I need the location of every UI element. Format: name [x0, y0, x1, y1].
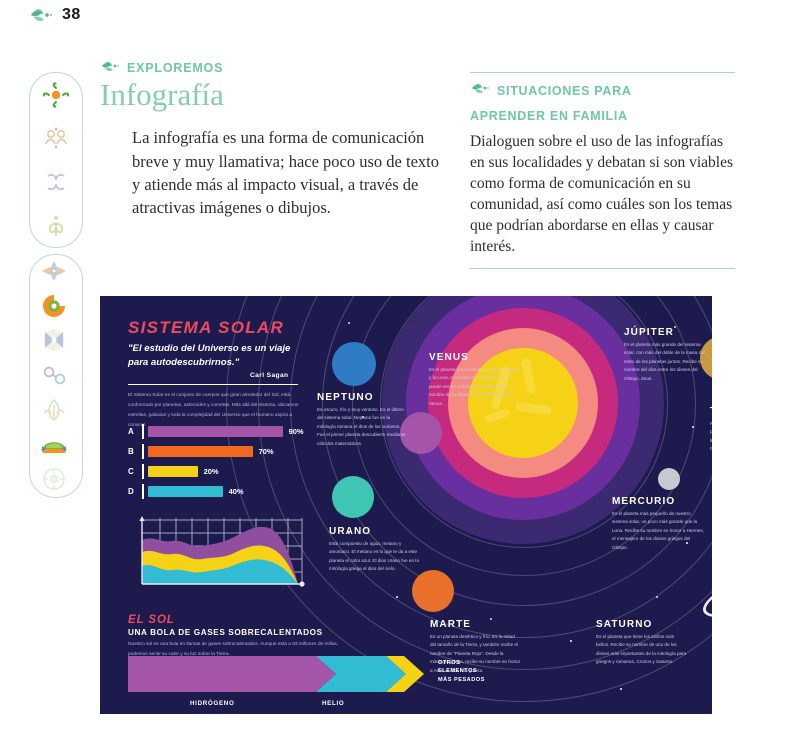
flower-orange-icon[interactable] — [39, 81, 73, 109]
planet-desc: Es el planeta más pequeño de nuestro sis… — [612, 510, 704, 552]
label-otros-elementos: OTROS ELEMENTOS MÁS PESADOS — [438, 659, 485, 684]
planet-name: SATURNO — [596, 619, 688, 630]
bar-axis — [142, 464, 144, 479]
rail-group-bottom[interactable] — [29, 254, 83, 498]
leaf-ornament-icon — [27, 6, 55, 24]
table-row: B 70% — [128, 444, 318, 459]
label-mercurio: MERCURIO Es el planeta más pequeño de nu… — [612, 496, 704, 552]
kicker-line-2-wrap: APRENDER EN FAMILIA — [470, 107, 735, 126]
bar-fill — [148, 426, 283, 437]
label-saturno: SATURNO Es el planeta que tiene los anil… — [596, 619, 688, 667]
label-venus: VENUS Es el planeta más caliente y despu… — [429, 352, 521, 408]
planet-mercurio[interactable] — [658, 468, 680, 490]
bar-value: 20% — [204, 467, 219, 476]
segment-hidrogeno — [128, 656, 336, 692]
label-helio: HELIO — [322, 700, 344, 707]
kicker-label: EXPLOREMOS — [127, 61, 223, 75]
divider-bottom — [470, 268, 735, 269]
leaf-ornament-icon — [470, 82, 490, 101]
page-title: Infografía — [100, 78, 445, 112]
spiral-dots-icon[interactable] — [39, 362, 73, 390]
page-number: 38 — [62, 6, 81, 24]
planet-desc: Es oscuro, frío y muy ventoso. Es el últ… — [317, 406, 409, 448]
infographic-author: Carl Sagan — [250, 372, 288, 379]
planet-neptuno[interactable] — [332, 342, 376, 386]
label-neptuno: NEPTUNO Es oscuro, frío y muy ventoso. E… — [317, 392, 409, 448]
tail-line-3: MÁS PESADOS — [438, 676, 485, 684]
sun-section-subtitle: UNA BOLA DE GASES SOBRECALENTADOS — [128, 628, 323, 637]
planet-desc: Es el planeta que tiene los anillos más … — [596, 633, 688, 667]
spiral-orange-icon[interactable] — [39, 293, 73, 321]
divider-top — [470, 72, 735, 73]
planet-name: URANO — [329, 526, 421, 537]
label-hidrogeno: HIDRÓGENO — [190, 700, 234, 707]
sprout-green-icon[interactable] — [39, 211, 73, 239]
kicker-exploremos: EXPLOREMOS — [100, 60, 445, 76]
infographic-title: SISTEMA SOLAR — [128, 318, 284, 338]
bar-category: B — [128, 447, 142, 456]
planet-marte[interactable] — [412, 570, 454, 612]
infographic-divider — [128, 384, 298, 385]
bar-chart: A 90% B 70% C 20% D 40% — [128, 424, 318, 504]
bar-fill — [148, 466, 198, 477]
sun-section-title: EL SOL — [128, 614, 175, 626]
planet-desc: Es el planeta más caliente y después del… — [429, 366, 521, 408]
bar-axis — [142, 444, 144, 459]
planet-urano[interactable] — [332, 476, 374, 518]
bar-value: 40% — [229, 487, 244, 496]
label-jupiter: JÚPITER Es el planeta más grande del sis… — [624, 327, 708, 383]
bar-category: A — [128, 427, 142, 436]
area-chart — [130, 514, 308, 594]
family-paragraph: Dialoguen sobre el uso de las infografía… — [470, 132, 735, 258]
cross-circle-icon[interactable] — [39, 327, 73, 355]
left-column: EXPLOREMOS Infografía La infografía es u… — [100, 60, 445, 220]
tail-line-1: OTROS — [438, 659, 485, 667]
label-tierra: TIERRA Nuestro hogar, el planeta Tierra,… — [710, 406, 712, 454]
planet-desc: Es el planeta más grande del sistema sol… — [624, 341, 708, 383]
planet-desc: Está compuesto de agua, metano y amoniac… — [329, 540, 421, 574]
infographic-sistema-solar[interactable]: JÚPITER Es el planeta más grande del sis… — [100, 296, 712, 714]
book-green-icon[interactable] — [39, 431, 73, 459]
bar-fill — [148, 486, 223, 497]
axis-dot-x — [299, 581, 304, 586]
planet-name: NEPTUNO — [317, 392, 409, 403]
tail-line-2: ELEMENTOS — [438, 667, 485, 675]
rail-group-top[interactable] — [29, 72, 83, 248]
leaf-ornament-icon — [100, 60, 120, 76]
bar-category: D — [128, 487, 142, 496]
compass-star-icon[interactable] — [39, 258, 73, 286]
planet-name: MERCURIO — [612, 496, 704, 507]
bar-category: C — [128, 467, 142, 476]
planet-name: MARTE — [430, 619, 522, 630]
bar-axis — [142, 424, 144, 439]
bar-value: 70% — [259, 447, 274, 456]
figures-peach-icon[interactable] — [39, 124, 73, 152]
planet-name: VENUS — [429, 352, 521, 363]
table-row: D 40% — [128, 484, 318, 499]
label-urano: URANO Está compuesto de agua, metano y a… — [329, 526, 421, 574]
kicker-situaciones: SITUACIONES PARA — [470, 82, 735, 101]
bar-axis — [142, 484, 144, 499]
right-column: SITUACIONES PARA APRENDER EN FAMILIA Dia… — [470, 72, 735, 269]
sun-pale-icon[interactable] — [39, 466, 73, 494]
page-header: 38 — [0, 0, 792, 30]
axis-arrow-y — [139, 516, 144, 521]
kicker-line-1: SITUACIONES PARA — [497, 82, 632, 101]
planet-name: JÚPITER — [624, 327, 708, 338]
planet-name: TIERRA — [710, 406, 712, 417]
figures-blue-icon[interactable] — [39, 168, 73, 196]
planet-desc: Nuestro hogar, el planeta Tierra, es un … — [710, 420, 712, 454]
bar-fill — [148, 446, 253, 457]
table-row: C 20% — [128, 464, 318, 479]
infographic-quote: "El estudio del Universo es un viaje par… — [128, 342, 304, 370]
leaf-pale-icon[interactable] — [39, 397, 73, 425]
table-row: A 90% — [128, 424, 318, 439]
bar-value: 90% — [289, 427, 304, 436]
intro-paragraph: La infografía es una forma de comunicaci… — [132, 126, 445, 220]
sun-composition-arrow — [128, 656, 440, 697]
kicker-line-2: APRENDER EN FAMILIA — [470, 107, 628, 126]
